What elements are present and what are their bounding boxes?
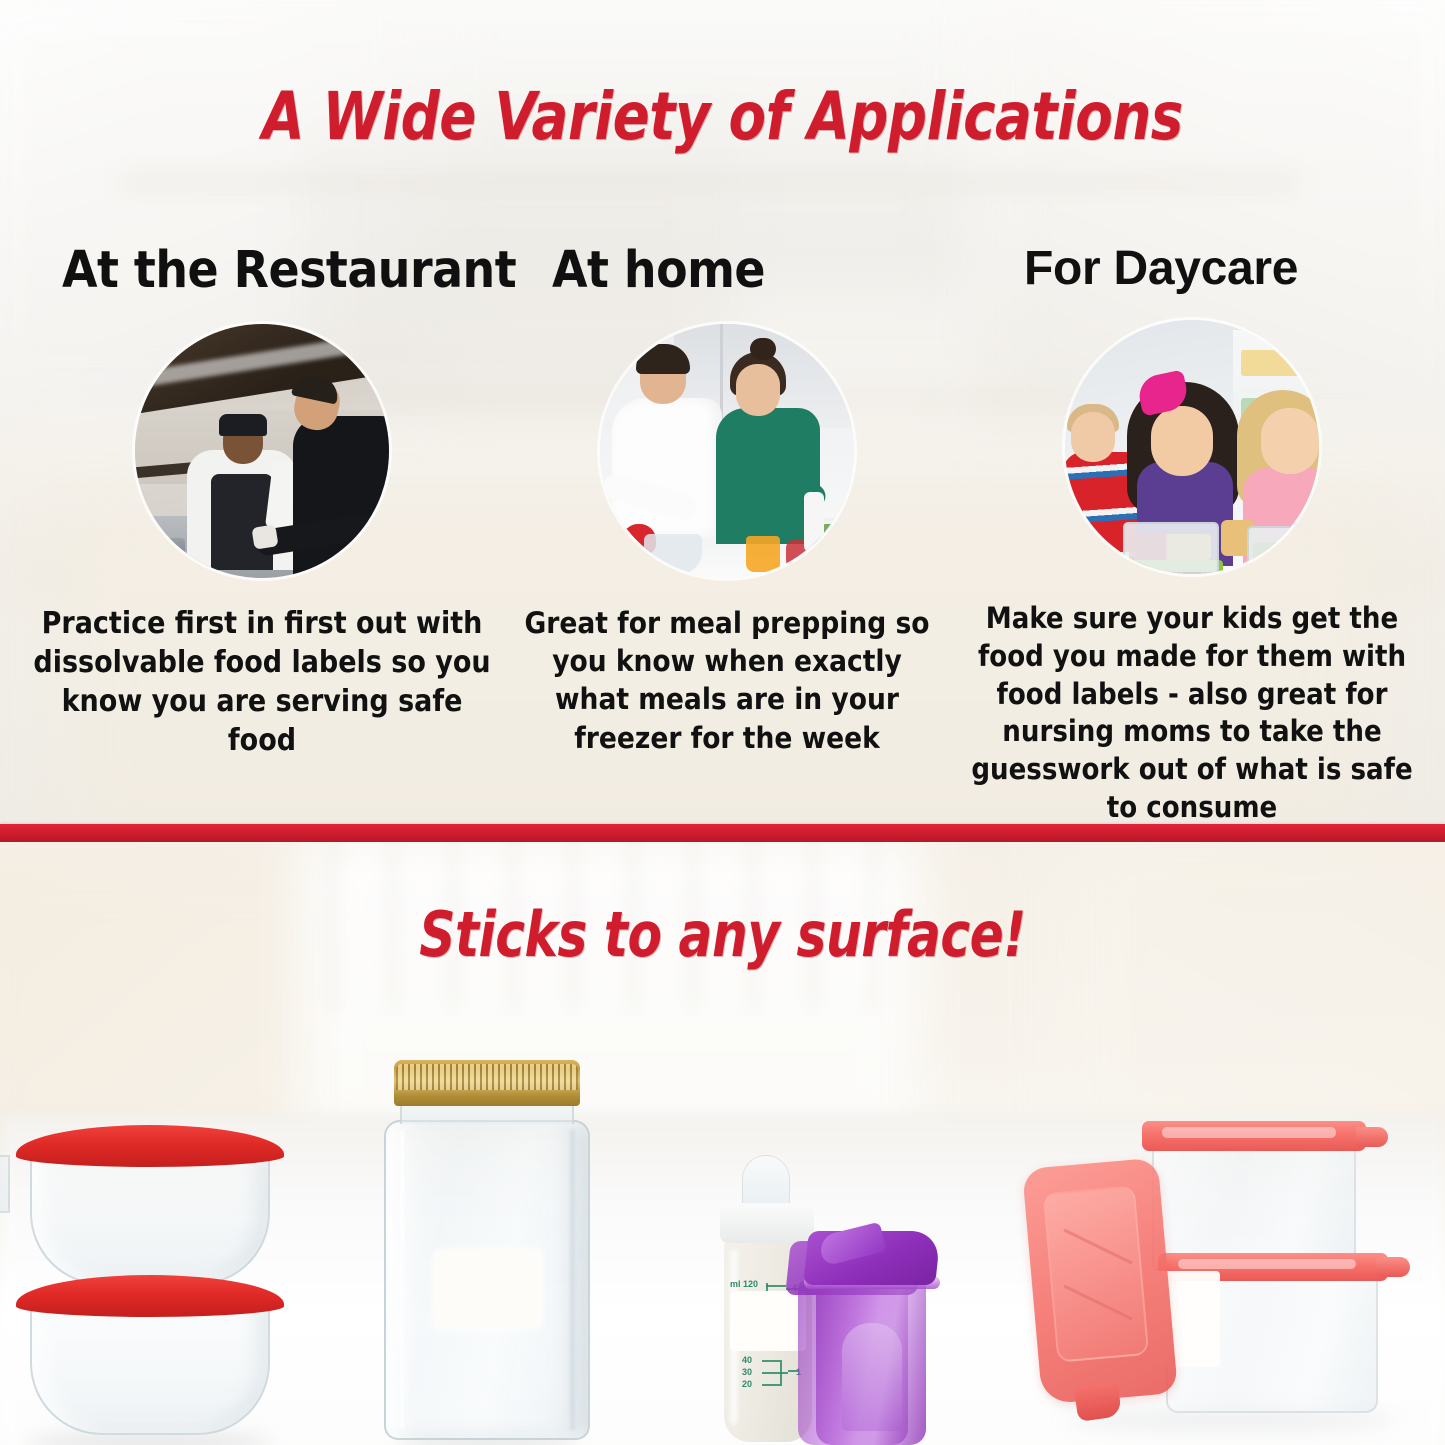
red-divider-bar (0, 824, 1445, 842)
product-sippy-cups (790, 1195, 970, 1445)
column-body-restaurant: Practice first in first out with dissolv… (22, 604, 502, 760)
bottle-marking-20: 20 (742, 1379, 752, 1389)
column-heading-daycare: For Daycare (952, 244, 1432, 294)
product-plastic-containers (1026, 1105, 1445, 1445)
applications-columns: At the Restaurant Practice first in firs… (0, 244, 1445, 804)
photo-daycare (1065, 320, 1319, 574)
product-mason-jar (378, 1060, 598, 1445)
product-lineup: ml 120 110 4 oz 40 30 20 1 (0, 1025, 1445, 1445)
column-heading-home: At home (512, 244, 942, 298)
bottle-marking-ml120: ml 120 (730, 1279, 758, 1289)
application-column-restaurant: At the Restaurant Practice first in firs… (22, 244, 502, 760)
column-heading-restaurant: At the Restaurant (22, 244, 502, 298)
photo-restaurant (135, 324, 389, 578)
section-title-surfaces: Sticks to any surface! (72, 898, 1373, 971)
product-glass-bowls (0, 1115, 314, 1445)
application-column-home: At home Great for meal prepping so you k… (512, 244, 942, 757)
bottle-marking-40: 40 (742, 1355, 752, 1365)
bottle-marking-30: 30 (742, 1367, 752, 1377)
column-body-home: Great for meal prepping so you know when… (512, 604, 942, 757)
application-column-daycare: For Daycare Make sure your kids get the … (952, 244, 1432, 827)
column-body-daycare: Make sure your kids get the food you mad… (952, 600, 1432, 826)
jar-blank-label (434, 1250, 542, 1328)
photo-home (600, 324, 854, 578)
marketing-infographic: A Wide Variety of Applications At the Re… (0, 0, 1445, 1445)
page-title: A Wide Variety of Applications (58, 78, 1387, 155)
